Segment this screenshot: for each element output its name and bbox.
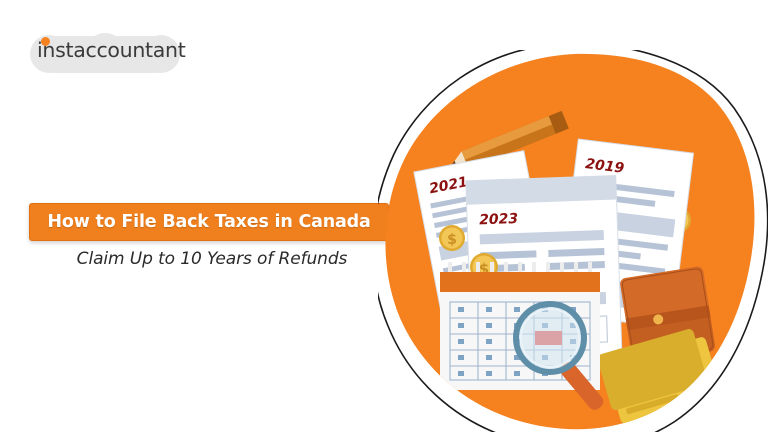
year-label-2023: 2023 (479, 211, 519, 228)
logo-wordmark: instaccountant (37, 38, 185, 62)
page-subtitle: Claim Up to 10 Years of Refunds (36, 249, 388, 269)
page-title: How to File Back Taxes in Canada (47, 212, 370, 232)
headline-banner: How to File Back Taxes in Canada (29, 203, 389, 241)
calendar-header (440, 272, 600, 292)
svg-text:$: $ (447, 232, 457, 248)
banner-canvas: instaccountant How to File Back Taxes in… (0, 0, 768, 432)
brand-logo[interactable]: instaccountant (17, 31, 202, 75)
back-taxes-illustration: $ 2021 (378, 50, 768, 432)
coin-icon-left-upper: $ (439, 225, 465, 251)
illustration-svg: $ 2021 (378, 50, 768, 432)
